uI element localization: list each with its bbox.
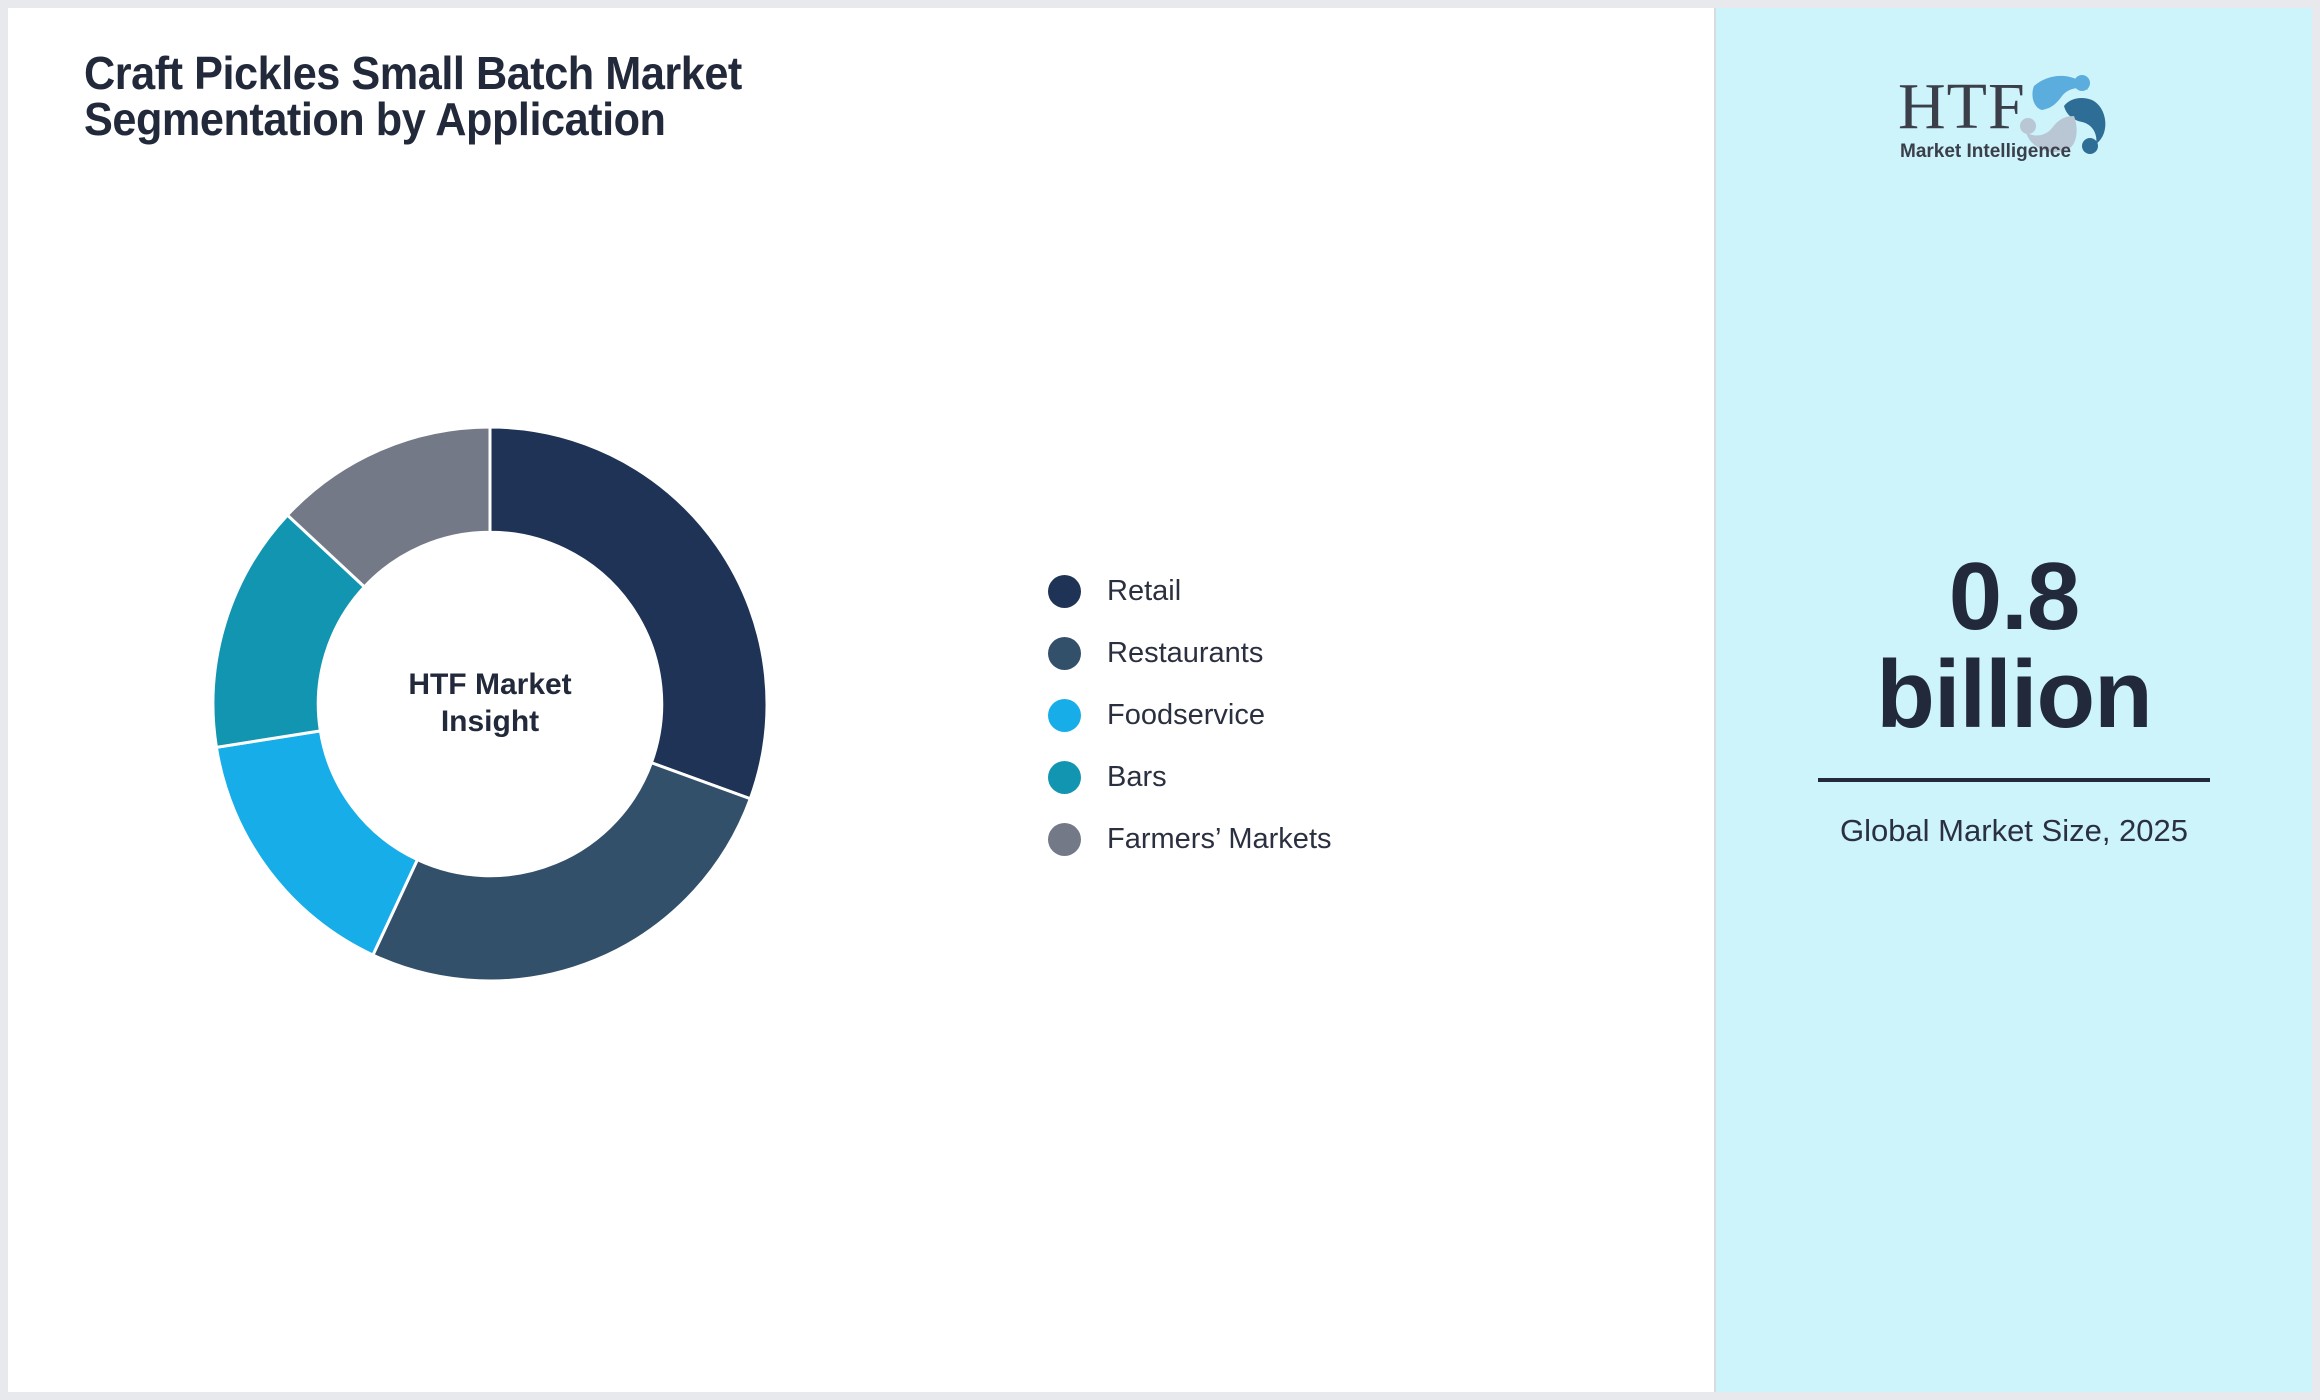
- stat-value: 0.8 billion: [1804, 548, 2224, 744]
- infographic-card: Craft Pickles Small Batch Market Segment…: [8, 8, 2312, 1392]
- page-title: Craft Pickles Small Batch Market Segment…: [84, 50, 1024, 142]
- htf-logo-icon: HTF Market Intelligence: [1884, 56, 2144, 164]
- svg-text:HTF: HTF: [1898, 70, 2026, 143]
- donut-slice[interactable]: [490, 427, 767, 799]
- stat-panel: HTF Market Intelligence 0.8 billion Glob…: [1714, 8, 2312, 1392]
- donut-slice[interactable]: [216, 731, 417, 955]
- legend-swatch-icon: [1048, 823, 1081, 856]
- donut-slice[interactable]: [373, 763, 750, 981]
- legend-item[interactable]: Farmers’ Markets: [1048, 808, 1608, 870]
- legend-item-label: Foodservice: [1107, 699, 1265, 732]
- donut-chart: HTF Market Insight: [204, 418, 776, 990]
- legend-swatch-icon: [1048, 637, 1081, 670]
- donut-slice-group: [213, 427, 767, 981]
- legend-item-label: Restaurants: [1107, 637, 1263, 670]
- legend-swatch-icon: [1048, 699, 1081, 732]
- logo-tagline: Market Intelligence: [1900, 141, 2071, 162]
- legend-swatch-icon: [1048, 761, 1081, 794]
- chart-legend: RetailRestaurantsFoodserviceBarsFarmers’…: [1048, 560, 1608, 870]
- donut-chart-svg: [204, 418, 776, 990]
- legend-item[interactable]: Foodservice: [1048, 684, 1608, 746]
- legend-item[interactable]: Retail: [1048, 560, 1608, 622]
- legend-item-label: Bars: [1107, 761, 1167, 794]
- legend-item[interactable]: Restaurants: [1048, 622, 1608, 684]
- legend-item[interactable]: Bars: [1048, 746, 1608, 808]
- stat-block: 0.8 billion Global Market Size, 2025: [1804, 548, 2224, 851]
- legend-item-label: Farmers’ Markets: [1107, 823, 1332, 856]
- legend-swatch-icon: [1048, 575, 1081, 608]
- chart-panel: Craft Pickles Small Batch Market Segment…: [8, 8, 1714, 1392]
- stat-caption: Global Market Size, 2025: [1804, 810, 2224, 851]
- htf-logo: HTF Market Intelligence: [1884, 56, 2144, 164]
- legend-item-label: Retail: [1107, 575, 1181, 608]
- stat-divider: [1818, 778, 2210, 782]
